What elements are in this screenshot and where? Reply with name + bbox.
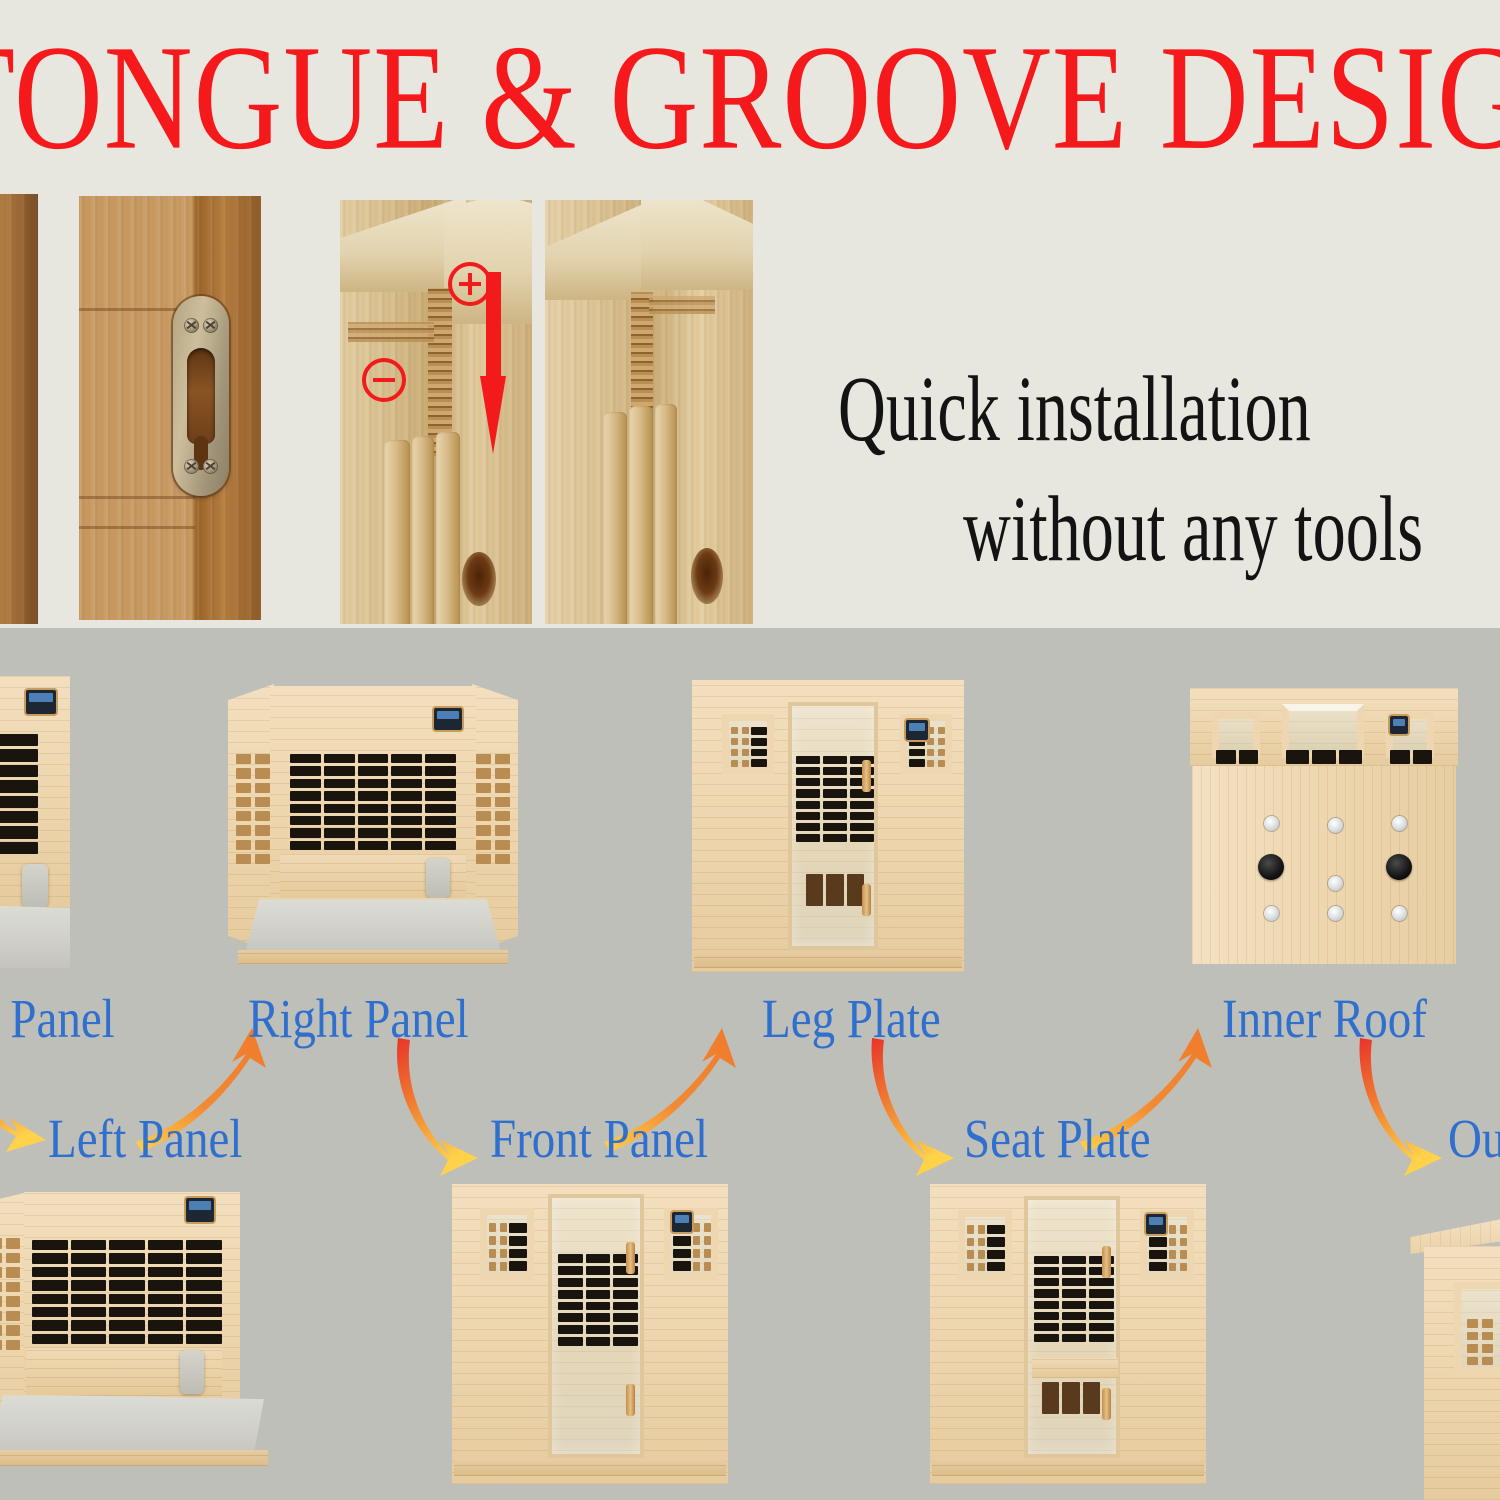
label-front-panel: Front Panel — [490, 1113, 708, 1168]
arrow-inner-to-outer-roof — [1360, 1038, 1442, 1176]
arrow-back-to-left — [0, 1048, 46, 1152]
label-back-panel: Back Panel — [0, 993, 115, 1048]
label-inner-roof: Inner Roof — [1222, 993, 1427, 1048]
label-right-panel: Right Panel — [248, 993, 469, 1048]
label-left-panel: Left Panel — [48, 1113, 242, 1168]
label-outer-roof: Outer Roof — [1448, 1113, 1500, 1168]
assembly-flow-arrows — [0, 0, 1500, 1500]
label-leg-plate: Leg Plate — [762, 993, 941, 1048]
arrow-leg-to-seat — [872, 1038, 954, 1176]
arrow-right-to-front — [397, 1038, 478, 1176]
infographic-stage: TONGUE & GROOVE DESIGN Quick installatio… — [0, 0, 1500, 1500]
label-seat-plate: Seat Plate — [964, 1113, 1151, 1168]
